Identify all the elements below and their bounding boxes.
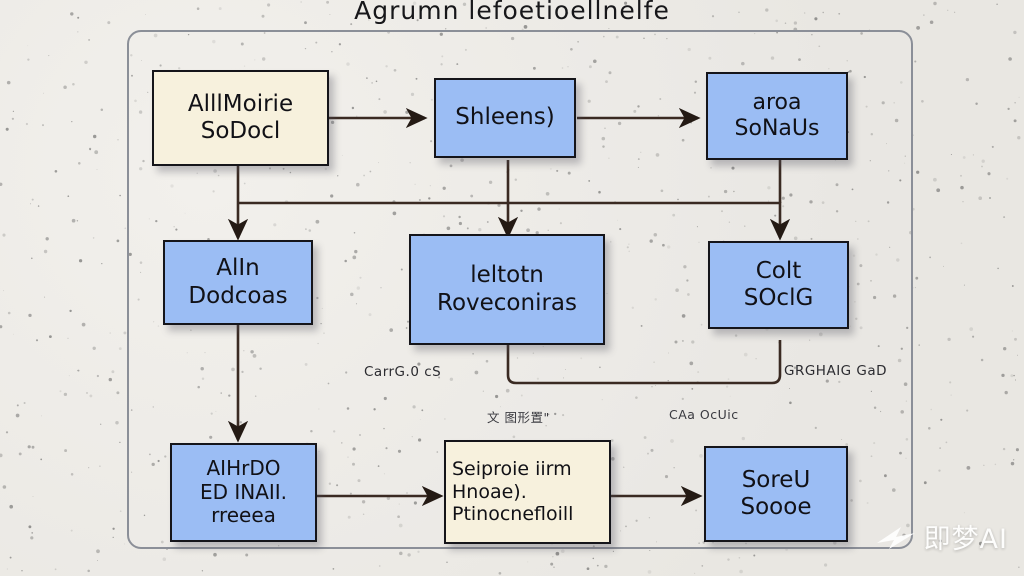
node-colt-socle[interactable]: Colt SOclG [708,241,849,329]
node-line: Dodcoas [188,283,287,310]
node-line: AlllMoirie [188,91,293,118]
node-aihrdo-reeea[interactable]: AIHrDO ED INAII. rreeea [170,443,317,542]
node-alin-dodcoas[interactable]: AlIn Dodcoas [163,240,313,325]
connector-bus-to-n6 [508,203,780,238]
node-line: aroa [753,90,802,116]
node-line: SoreU [742,467,811,494]
node-line: Shleens) [455,104,554,131]
node-soreu-soooe[interactable]: SoreU Soooe [704,446,848,542]
node-line: leltotn [470,262,544,289]
caption-carrg0cs: CarrG.0 cS [364,364,441,380]
connector-n5-to-n6-loop [508,340,780,383]
node-line: AlIn [216,255,259,282]
node-line: Ptinocnefloill [452,503,573,525]
node-allmoirie-sodocl[interactable]: AlllMoirie SoDocl [152,70,329,166]
node-line: rreeea [211,504,276,528]
node-line: SOclG [744,285,814,312]
connector-bus-to-n5 [238,203,508,236]
node-line: Roveconiras [437,290,577,317]
node-line: Soooe [741,494,812,521]
node-line: Hnoae). [452,481,527,503]
node-seiproie-ptinocneflo[interactable]: Seiproie iirm Hnoae). Ptinocnefloill [444,440,611,544]
node-line: Colt [756,258,802,285]
node-leltotn-roveconiras[interactable]: leltotn Roveconiras [409,234,605,345]
node-line: Seiproie iirm [452,458,572,480]
node-line: SoDocl [201,118,281,145]
node-shleens[interactable]: Shleens) [434,78,576,158]
node-aroa-sonaus[interactable]: aroa SoNaUs [706,72,848,160]
node-line: AIHrDO [207,457,281,481]
node-line: SoNaUs [735,116,820,142]
node-line: ED INAII. [200,481,287,505]
caption-caaocuic: CAa OcUic [669,407,739,422]
caption-grghaisgad: GRGHAIG GaD [784,363,887,379]
caption-cjk-glyphs: 文 图形置" [487,407,550,426]
